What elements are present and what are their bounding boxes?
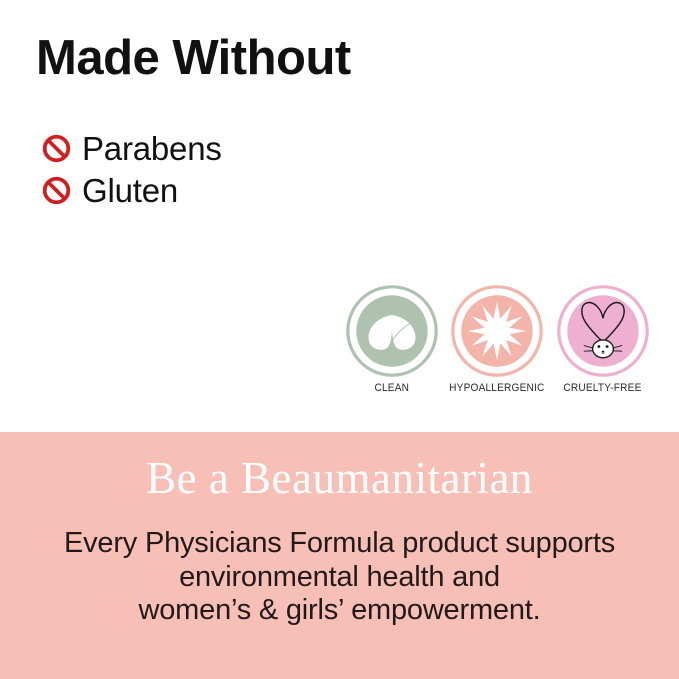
banner-body-line: environmental health and bbox=[0, 561, 679, 595]
banner-body-line: women’s & girls’ empowerment. bbox=[0, 594, 679, 628]
banner-body-line: Every Physicians Formula product support… bbox=[0, 527, 679, 561]
beaumanitarian-banner: Be a Beaumanitarian Every Physicians For… bbox=[0, 432, 679, 679]
claims-list: Parabens Gluten bbox=[42, 128, 222, 212]
list-item: Parabens bbox=[42, 128, 222, 169]
leaves-icon bbox=[345, 284, 439, 378]
banner-body: Every Physicians Formula product support… bbox=[0, 527, 679, 628]
list-item: Gluten bbox=[42, 170, 222, 211]
badge-hypoallergenic: HYPOALLERGENIC bbox=[450, 284, 545, 394]
badge-cruelty-free: CRUELTY-FREE bbox=[555, 284, 650, 394]
banner-heading: Be a Beaumanitarian bbox=[0, 452, 679, 504]
badge-label: HYPOALLERGENIC bbox=[449, 382, 544, 394]
badge-clean: CLEAN bbox=[344, 284, 439, 394]
badge-label: CRUELTY-FREE bbox=[563, 382, 641, 394]
made-without-section: Made Without Parabens Gluten bbox=[0, 0, 679, 432]
certification-badges: CLEAN bbox=[344, 284, 650, 394]
prohibition-icon bbox=[42, 176, 82, 205]
prohibition-icon bbox=[42, 134, 82, 163]
list-item-label: Parabens bbox=[82, 132, 222, 165]
starburst-flower-icon bbox=[450, 284, 544, 378]
badge-label: CLEAN bbox=[374, 382, 409, 394]
bunny-heart-ears-icon bbox=[556, 284, 650, 378]
list-item-label: Gluten bbox=[82, 174, 178, 207]
page-title: Made Without bbox=[36, 33, 351, 84]
